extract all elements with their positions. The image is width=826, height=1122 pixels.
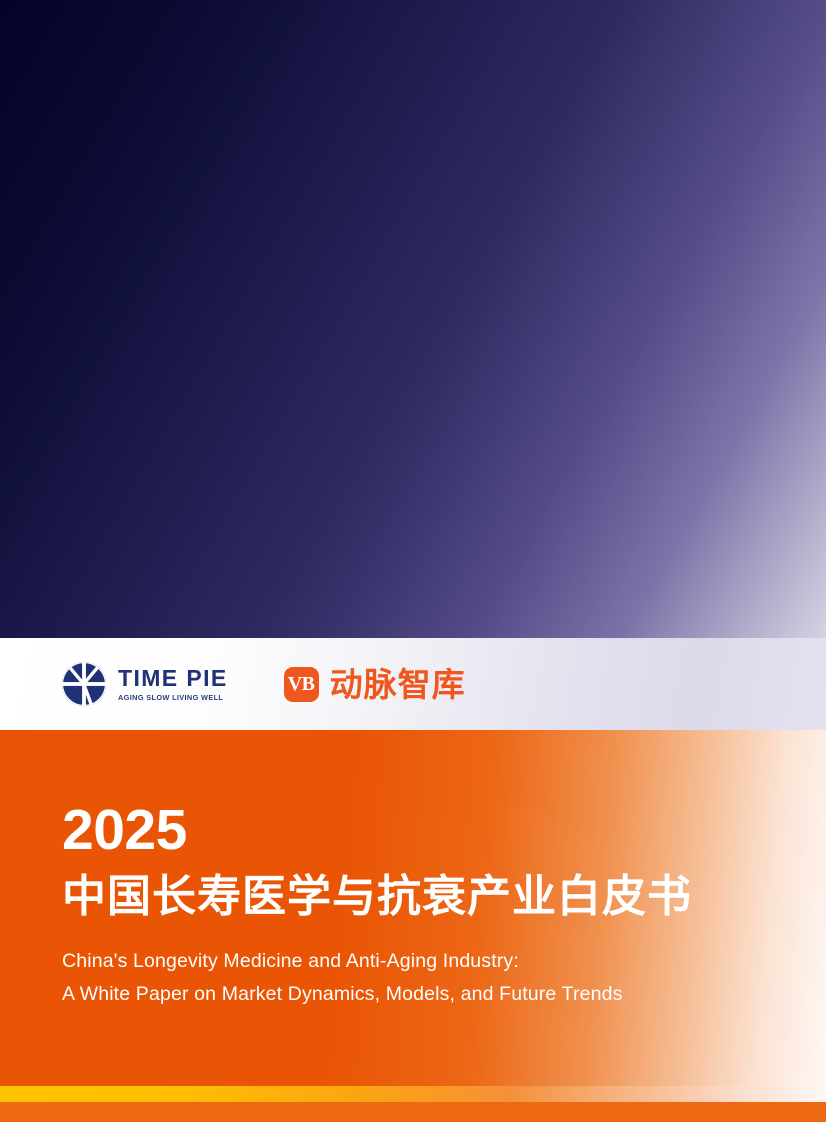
cover-subtitle-english: China's Longevity Medicine and Anti-Agin… — [62, 945, 826, 1012]
cover-title-chinese: 中国长寿医学与抗衰产业白皮书 — [62, 873, 826, 921]
cover-subtitle-line-2: A White Paper on Market Dynamics, Models… — [62, 978, 826, 1012]
timepie-wordmark: TIME PIE AGING SLOW LIVING WELL — [118, 667, 228, 702]
vcbeat-name: 动脉智库 — [330, 668, 466, 701]
bottom-orange-bar — [0, 1102, 826, 1122]
logo-row: TIME PIE AGING SLOW LIVING WELL VB 动脉智库 — [0, 660, 466, 708]
hero-gradient-background — [0, 0, 826, 638]
title-block: 2025 中国长寿医学与抗衰产业白皮书 China's Longevity Me… — [0, 730, 826, 1086]
hero-sheen-overlay — [0, 0, 826, 638]
cover-subtitle-line-1: China's Longevity Medicine and Anti-Agin… — [62, 945, 826, 979]
title-inner: 2025 中国长寿医学与抗衰产业白皮书 China's Longevity Me… — [0, 730, 826, 1012]
timepie-tagline: AGING SLOW LIVING WELL — [118, 694, 224, 702]
report-cover-page: TIME PIE AGING SLOW LIVING WELL VB 动脉智库 … — [0, 0, 826, 1122]
vb-badge-icon: VB — [284, 667, 319, 702]
bottom-gold-bar — [0, 1086, 826, 1102]
logo-band: TIME PIE AGING SLOW LIVING WELL VB 动脉智库 — [0, 638, 826, 730]
timepie-logo: TIME PIE AGING SLOW LIVING WELL — [60, 660, 228, 708]
time-pie-circle-mark-icon — [60, 660, 108, 708]
timepie-name: TIME PIE — [118, 667, 228, 690]
cover-year: 2025 — [62, 802, 826, 859]
vcbeat-logo: VB 动脉智库 — [284, 667, 466, 702]
